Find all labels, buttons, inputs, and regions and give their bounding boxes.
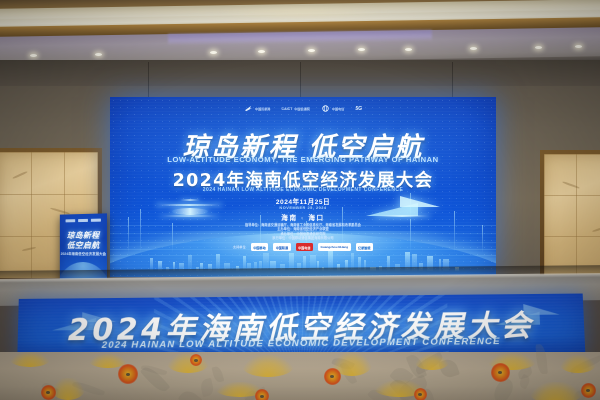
sponsor-logo: 亿航智能	[356, 243, 373, 251]
downlight	[258, 50, 265, 53]
carpet-fan-motif	[10, 352, 50, 367]
carpet-bloom-core	[418, 393, 422, 396]
sign-logo	[66, 219, 76, 222]
downlight	[470, 47, 477, 50]
sign-title-line2: 低空启航	[60, 240, 107, 251]
downlight	[405, 48, 412, 51]
screen-main-title-en: LOW-ALTITUDE ECONOMY, THE EMERGING PATHW…	[110, 155, 496, 164]
sponsor-name: 中国联通	[276, 245, 288, 250]
wall-panel-right	[540, 150, 600, 282]
wall-panel-grid	[544, 154, 600, 278]
downlight	[210, 51, 217, 54]
logo-label: CAICT	[282, 107, 293, 111]
carpet-bloom-core	[498, 371, 502, 374]
sign-logo	[91, 219, 101, 222]
carpet-bloom-core	[126, 373, 130, 376]
partner-logo-row: 中国民航局 CAICT 中国信通院 中国电信 5G	[110, 105, 496, 112]
carpet-fan-motif	[530, 382, 582, 400]
logo-china-telecom: 中国电信	[321, 105, 344, 112]
screen-subtitle-en: 2024 HAINAN LOW ALTITUDE ECONOMIC DEVELO…	[110, 187, 496, 193]
organizer-text-block: 指导单位：海南省交通运输厅、海南省工业和信息化厅、海南省发展和改革委员会主办单位…	[245, 223, 361, 241]
sponsor-logo-row: 支持单位 中国移动中国联通中国电信Guangzhou EHang亿航智能	[233, 243, 373, 251]
logo-caac: 中国民航局	[244, 105, 271, 112]
carpet-bloom-core	[260, 395, 264, 398]
stage-front-led-banner: 2024年海南低空经济发展大会 2024 HAINAN LOW ALTITUDE…	[17, 294, 585, 359]
logo-label: 中国民航局	[255, 107, 271, 111]
carpet-fan-motif	[560, 355, 597, 373]
downlight	[535, 46, 542, 49]
carpet-bloom-core	[586, 389, 590, 392]
sponsor-name: 亿航智能	[358, 245, 370, 250]
carpet-leaf-motif	[212, 366, 224, 384]
logo-5g: 5G	[355, 106, 362, 112]
carpet-bloom-core	[194, 359, 198, 362]
downlight	[30, 54, 37, 57]
carpet-bloom-core	[330, 375, 334, 378]
carpet-bloom-core	[46, 391, 50, 394]
globe-icon	[321, 105, 330, 112]
sponsor-name: 中国电信	[298, 245, 310, 250]
swoosh-icon	[244, 105, 253, 112]
screen-date-en: NOVEMBER 25, 2024	[110, 205, 496, 210]
carpet-fan-motif	[51, 378, 85, 400]
carpet-leaf-motif	[178, 387, 203, 400]
sign-logo	[78, 219, 88, 222]
carpet-fan-motif	[415, 354, 449, 370]
sponsor-logo: 中国移动	[251, 243, 268, 251]
carpet-leaf-motif	[199, 378, 215, 397]
sponsor-logo: 中国电信	[296, 243, 313, 251]
sponsor-logo: 中国联通	[273, 243, 290, 251]
carpet-fan-motif	[167, 353, 208, 373]
conference-hall-photo: 中国民航局 CAICT 中国信通院 中国电信 5G 琼岛新程 低空启航 LOW-…	[0, 0, 600, 400]
led-backdrop-screen: 中国民航局 CAICT 中国信通院 中国电信 5G 琼岛新程 低空启航 LOW-…	[110, 97, 496, 277]
sign-subtitle: 2024年海南低空经济发展大会	[60, 251, 107, 256]
sponsor-row-label: 支持单位	[233, 245, 246, 249]
carpet-fan-motif	[242, 355, 293, 377]
sponsor-name: 中国移动	[253, 245, 265, 250]
sign-logo-row	[60, 218, 107, 222]
sponsor-logo: Guangzhou EHang	[318, 243, 351, 251]
sponsor-name: Guangzhou EHang	[320, 245, 348, 249]
carpet-floor	[0, 352, 600, 400]
ceiling-glow	[210, 6, 390, 18]
logo-label: 5G	[355, 106, 362, 112]
logo-sublabel: 中国信通院	[294, 107, 310, 111]
logo-caict: CAICT 中国信通院	[282, 107, 310, 111]
downlight	[95, 53, 102, 56]
screen-location: 海南 · 海口	[110, 212, 496, 222]
logo-label: 中国电信	[332, 107, 344, 111]
organizer-line: 执行单位：中国移动通信集团海南有限公司	[245, 236, 361, 240]
